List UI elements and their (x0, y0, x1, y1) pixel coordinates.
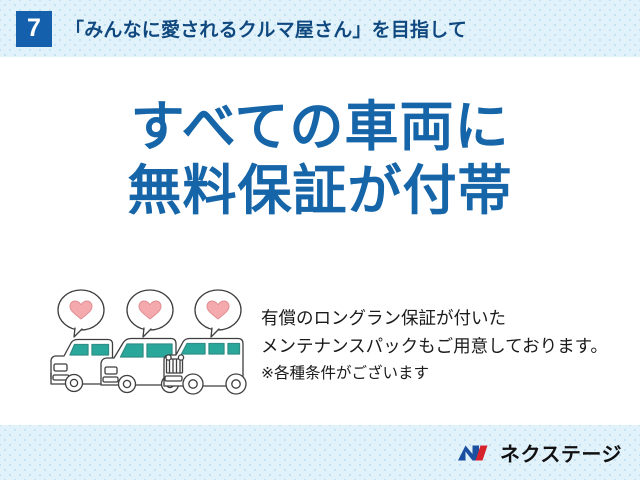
brand-logo-text: ネクステージ (500, 438, 622, 467)
body-text-block: 有償のロングラン保証が付いた メンテナンスパックもご用意しております。 ※各種条… (261, 304, 608, 386)
body-text-line-2: メンテナンスパックもご用意しております。 (261, 332, 608, 360)
body-text-note: ※各種条件がございます (261, 361, 608, 386)
headline: すべての車両に 無料保証が付帯 (0, 96, 640, 223)
heart-speech-bubble-right (195, 290, 241, 337)
header-band: 7 「みんなに愛されるクルマ屋さん」を目指して (0, 0, 640, 57)
heart-speech-bubble-left (58, 290, 104, 337)
brand-logo: ネクステージ (457, 438, 622, 467)
cars-illustration (48, 288, 253, 398)
section-number-badge: 7 (16, 11, 52, 47)
headline-line-1: すべての車両に (0, 96, 640, 160)
content-row: 有償のロングラン保証が付いた メンテナンスパックもご用意しております。 ※各種条… (0, 288, 640, 408)
headline-line-2: 無料保証が付帯 (0, 160, 640, 224)
footer-band: ネクステージ (0, 425, 640, 480)
body-text-line-1: 有償のロングラン保証が付いた (261, 304, 608, 332)
header-title: 「みんなに愛されるクルマ屋さん」を目指して (65, 15, 467, 42)
heart-speech-bubble-middle (127, 290, 173, 337)
cars-and-hearts-illustration (48, 288, 253, 398)
nexstage-n-logo-icon (457, 441, 491, 465)
advertisement-page: 7 「みんなに愛されるクルマ屋さん」を目指して すべての車両に 無料保証が付帯 (0, 0, 640, 480)
